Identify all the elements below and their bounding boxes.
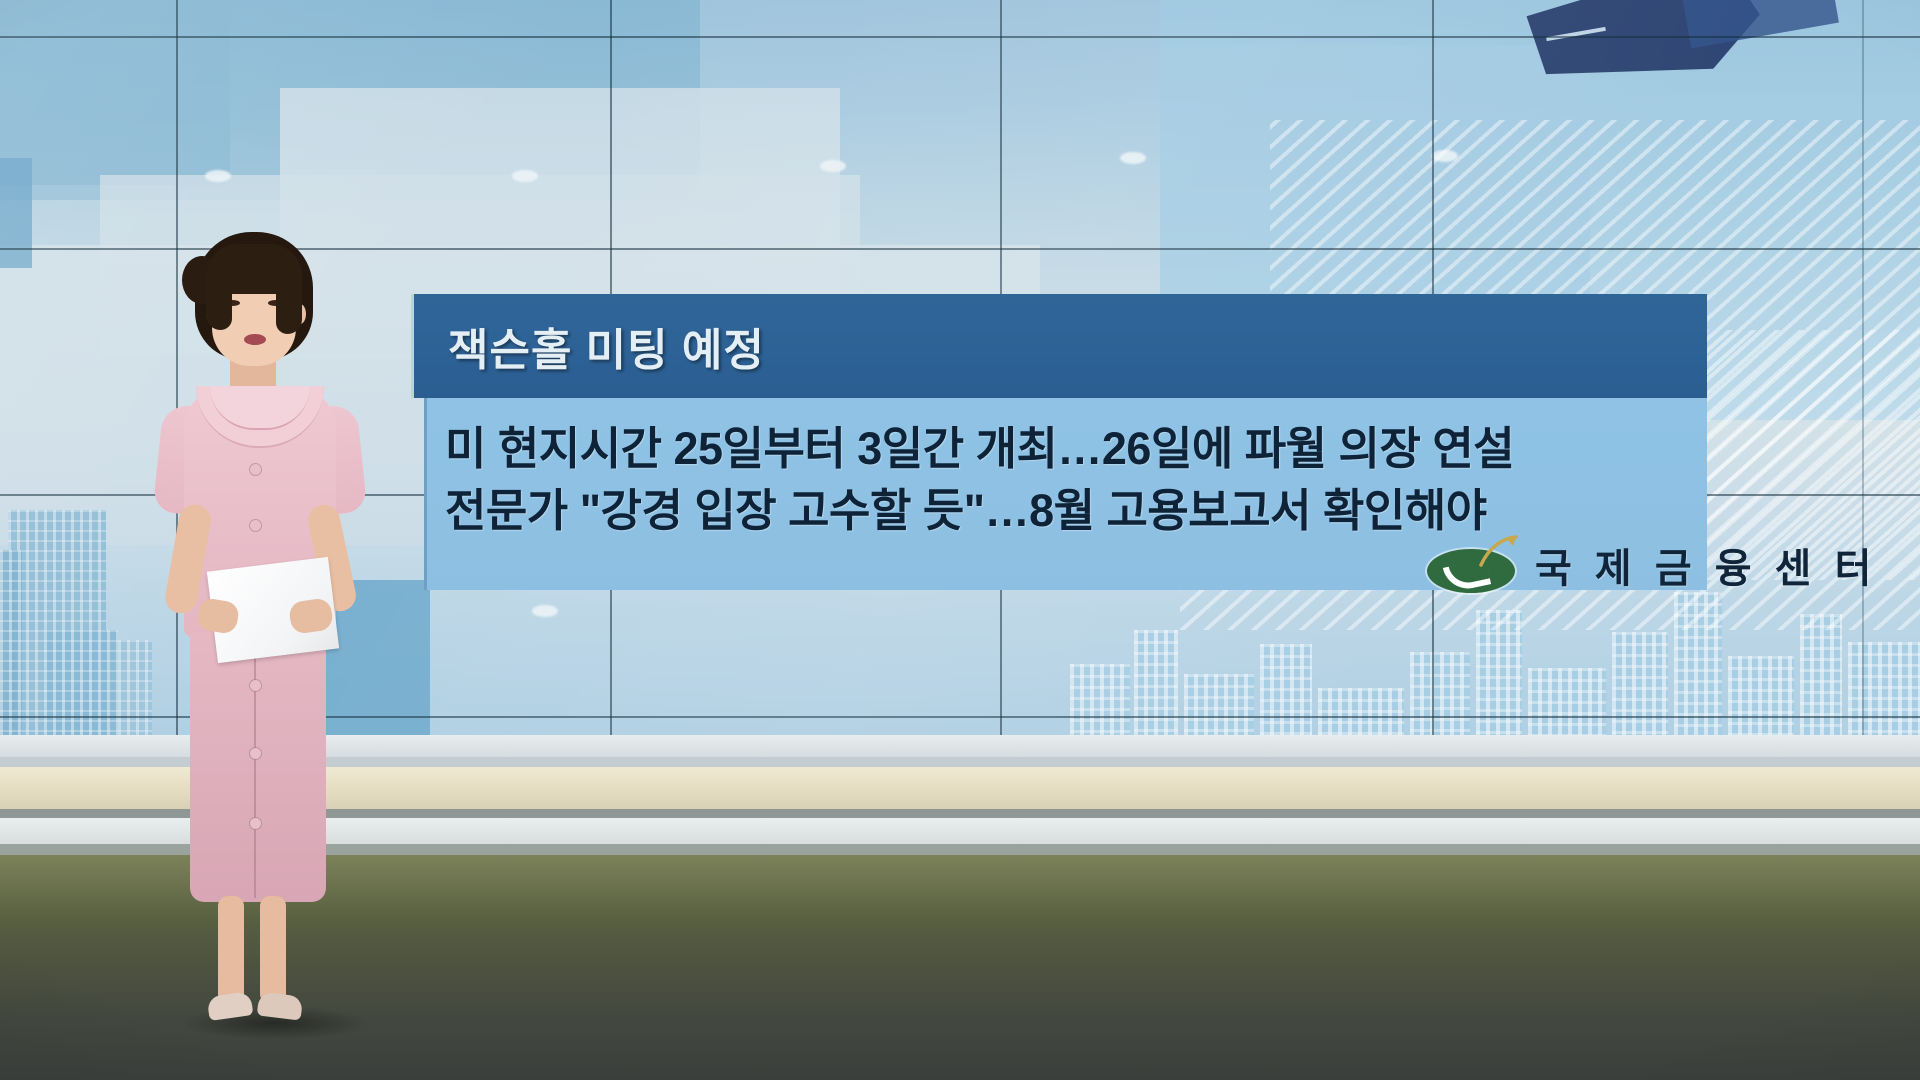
ceiling-spot-icon (820, 160, 846, 172)
graphic-source-credit: 국 제 금 융 센 터 (1427, 536, 1877, 594)
wall-sky-left-inner (0, 0, 230, 185)
ceiling-spot-icon (532, 605, 558, 617)
graphic-body: 미 현지시간 25일부터 3일간 개최…26일에 파월 의장 연설 전문가 "강… (424, 398, 1707, 590)
graphic-body-line-1: 미 현지시간 25일부터 3일간 개최…26일에 파월 의장 연설 (445, 412, 1514, 477)
logo-arrow-icon (1479, 535, 1519, 569)
anchor-shoe (257, 991, 304, 1020)
broadcast-frame: 잭슨홀 미팅 예정 미 현지시간 25일부터 3일간 개최…26일에 파월 의장… (0, 0, 1920, 1080)
wall-seam-vertical (1862, 0, 1864, 760)
wall-blue-chip (0, 158, 32, 268)
kcif-leaf-logo-icon (1427, 537, 1519, 593)
ceiling-spot-icon (1120, 152, 1146, 164)
ceiling-spot-icon (205, 170, 231, 182)
graphic-source-name: 국 제 금 융 센 터 (1535, 536, 1877, 594)
graphic-title: 잭슨홀 미팅 예정 (448, 314, 765, 378)
ceiling-spot-icon (512, 170, 538, 182)
graphic-body-line-2: 전문가 "강경 입장 고수할 듯"…8월 고용보고서 확인해야 (445, 474, 1487, 539)
news-graphic-panel: 잭슨홀 미팅 예정 미 현지시간 25일부터 3일간 개최…26일에 파월 의장… (411, 294, 1707, 590)
news-anchor (150, 228, 410, 1048)
graphic-header-bar: 잭슨홀 미팅 예정 (411, 294, 1707, 398)
wall-seam-horizontal (0, 36, 1920, 38)
